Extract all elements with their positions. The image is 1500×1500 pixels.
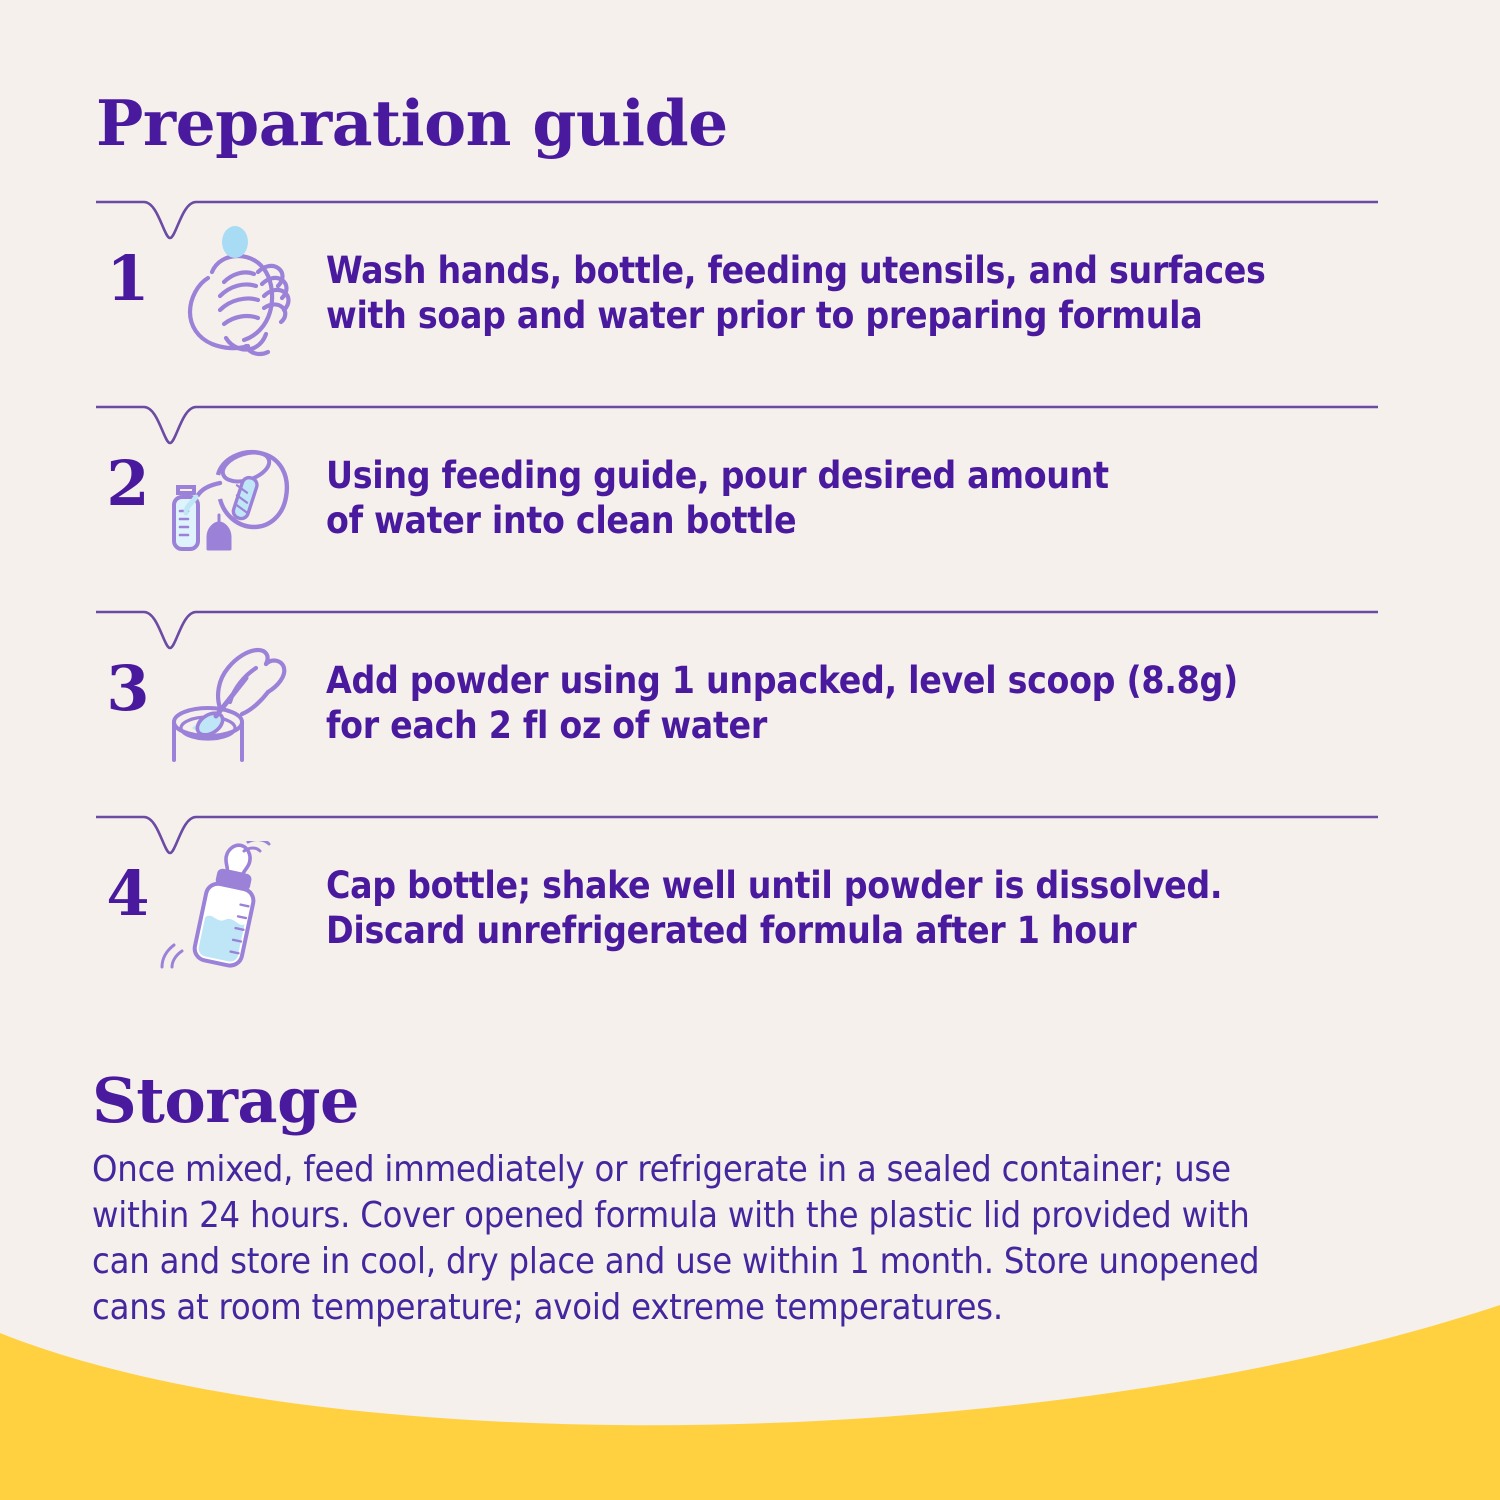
step-number: 1 xyxy=(96,248,160,310)
step-number: 3 xyxy=(96,658,160,720)
step-text: Wash hands, bottle, feeding utensils, an… xyxy=(326,248,1376,338)
step-row: 4 xyxy=(0,811,1500,1016)
storage-section: Storage Once mixed, feed immediately or … xyxy=(92,1068,1392,1331)
step-row: 3 xyxy=(0,606,1500,811)
scoop-powder-can-icon xyxy=(160,636,305,776)
page-title: Preparation guide xyxy=(96,92,728,155)
step-text: Using feeding guide, pour desired amount… xyxy=(326,453,1376,543)
shaking-bottle-icon xyxy=(160,841,305,981)
storage-title: Storage xyxy=(92,1068,1392,1133)
storage-body-text: Once mixed, feed immediately or refriger… xyxy=(92,1147,1392,1331)
step-row: 2 xyxy=(0,401,1500,606)
step-text: Add powder using 1 unpacked, level scoop… xyxy=(326,658,1376,748)
step-text: Cap bottle; shake well until powder is d… xyxy=(326,863,1376,953)
step-number: 2 xyxy=(96,453,160,515)
washing-hands-icon xyxy=(160,226,305,366)
step-number: 4 xyxy=(96,863,160,925)
preparation-guide-page: Preparation guide 1 xyxy=(0,0,1500,1500)
kettle-pouring-bottle-icon xyxy=(160,431,305,571)
preparation-steps-list: 1 xyxy=(0,196,1500,1016)
step-row: 1 xyxy=(0,196,1500,401)
